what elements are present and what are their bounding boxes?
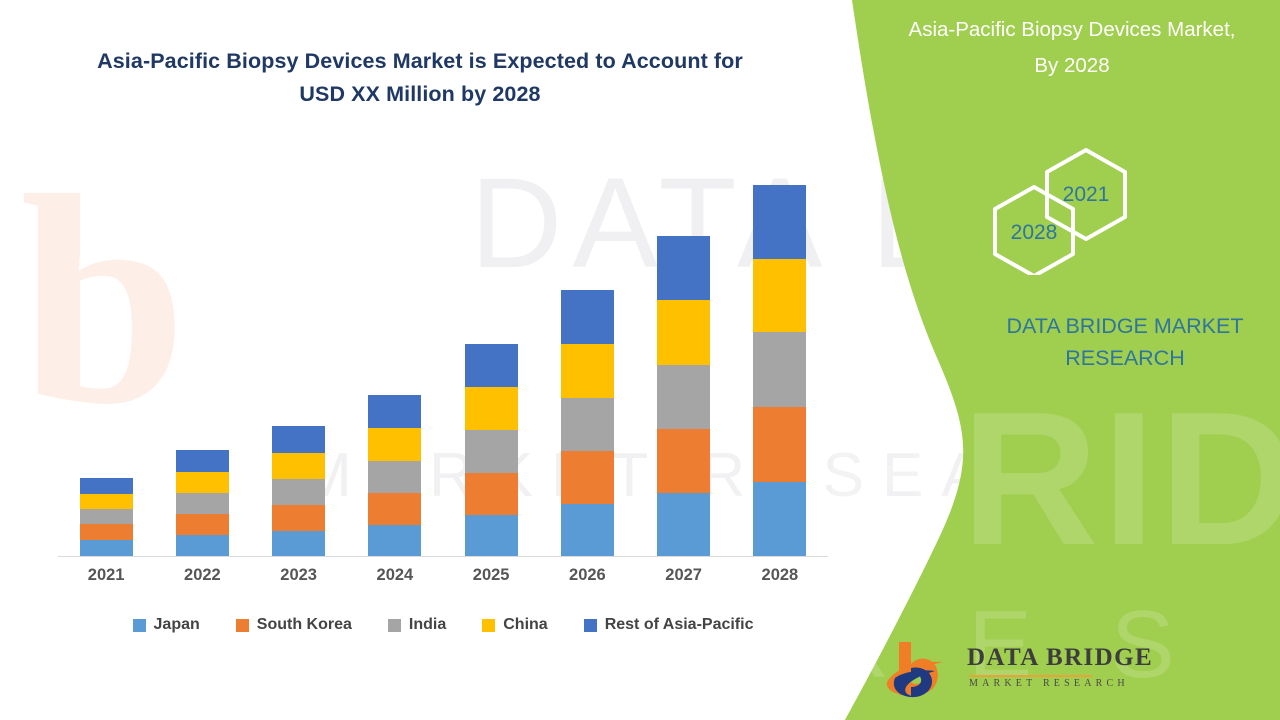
bar-segment-china-2022[interactable] [176, 472, 229, 493]
bar-segment-south-korea-2021[interactable] [80, 524, 133, 540]
bar-segment-rest-of-asia-pacific-2027[interactable] [657, 236, 710, 300]
chart-title-line-1: Asia-Pacific Biopsy Devices Market is Ex… [97, 49, 743, 73]
hexagon-2021-label: 2021 [1041, 183, 1131, 207]
bar-segment-south-korea-2026[interactable] [561, 451, 614, 504]
legend-item-south-korea[interactable]: South Korea [236, 616, 352, 634]
chart-legend: JapanSouth KoreaIndiaChinaRest of Asia-P… [58, 616, 828, 634]
bar-segment-japan-2027[interactable] [657, 493, 710, 556]
bar-segment-rest-of-asia-pacific-2028[interactable] [753, 185, 806, 259]
bar-segment-japan-2021[interactable] [80, 540, 133, 556]
bar-segment-south-korea-2022[interactable] [176, 514, 229, 535]
legend-swatch-icon [236, 619, 249, 632]
x-tick-2022: 2022 [157, 566, 247, 585]
bar-segment-japan-2023[interactable] [272, 531, 325, 556]
bar-segment-rest-of-asia-pacific-2025[interactable] [465, 344, 518, 387]
panel-brand-line-1: DATA BRIDGE MARKET [1007, 314, 1244, 338]
panel-brand-line-2: RESEARCH [1065, 346, 1184, 370]
legend-item-japan[interactable]: Japan [133, 616, 200, 634]
bar-segment-south-korea-2027[interactable] [657, 429, 710, 493]
bar-segment-china-2024[interactable] [368, 428, 421, 461]
bar-segment-china-2023[interactable] [272, 453, 325, 479]
x-tick-2028: 2028 [735, 566, 825, 585]
legend-item-rest-of-asia-pacific[interactable]: Rest of Asia-Pacific [584, 616, 754, 634]
x-tick-2021: 2021 [61, 566, 151, 585]
bar-2026[interactable] [561, 290, 614, 556]
bar-2025[interactable] [465, 344, 518, 556]
legend-label: Rest of Asia-Pacific [605, 616, 754, 634]
bar-segment-japan-2028[interactable] [753, 482, 806, 556]
chart-title: Asia-Pacific Biopsy Devices Market is Ex… [60, 45, 780, 111]
bar-2022[interactable] [176, 450, 229, 556]
legend-label: Japan [154, 616, 200, 634]
bar-segment-rest-of-asia-pacific-2026[interactable] [561, 290, 614, 344]
panel-title-line-1: Asia-Pacific Biopsy Devices Market, [909, 18, 1236, 41]
bar-segment-india-2025[interactable] [465, 430, 518, 473]
bar-segment-india-2021[interactable] [80, 509, 133, 524]
bar-segment-china-2025[interactable] [465, 387, 518, 430]
bar-segment-china-2026[interactable] [561, 344, 614, 398]
legend-item-china[interactable]: China [482, 616, 547, 634]
hexagon-2028-label: 2028 [989, 221, 1079, 245]
hexagon-badges: 2021 2028 [985, 145, 1175, 275]
bar-2021[interactable] [80, 478, 133, 556]
bar-segment-south-korea-2024[interactable] [368, 493, 421, 525]
legend-label: China [503, 616, 547, 634]
panel-title: Asia-Pacific Biopsy Devices Market, By 2… [872, 12, 1272, 84]
legend-label: India [409, 616, 446, 634]
bar-segment-india-2024[interactable] [368, 461, 421, 493]
panel-title-line-2: By 2028 [1034, 54, 1109, 77]
bar-segment-china-2027[interactable] [657, 300, 710, 365]
bar-2023[interactable] [272, 426, 325, 556]
bar-segment-china-2028[interactable] [753, 259, 806, 332]
bar-segment-india-2028[interactable] [753, 332, 806, 407]
green-watermark-brid: BRID [820, 370, 1280, 588]
panel-brand-text: DATA BRIDGE MARKET RESEARCH [975, 310, 1275, 374]
infographic-canvas: b DATA BRIDGE MARKET RESEARCH Asia-Pacif… [0, 0, 1280, 720]
x-tick-2024: 2024 [350, 566, 440, 585]
logo-mark-icon [885, 638, 965, 704]
bar-segment-rest-of-asia-pacific-2024[interactable] [368, 395, 421, 428]
bar-segment-japan-2025[interactable] [465, 515, 518, 556]
logo-subtitle: MARKET RESEARCH [969, 678, 1129, 689]
x-tick-2026: 2026 [542, 566, 632, 585]
bar-segment-rest-of-asia-pacific-2022[interactable] [176, 450, 229, 472]
legend-swatch-icon [388, 619, 401, 632]
logo-title: DATA BRIDGE [967, 644, 1153, 672]
chart-plot-area [58, 150, 828, 557]
bar-segment-india-2026[interactable] [561, 398, 614, 451]
bar-2027[interactable] [657, 236, 710, 556]
x-tick-2023: 2023 [254, 566, 344, 585]
legend-item-india[interactable]: India [388, 616, 446, 634]
bar-segment-south-korea-2025[interactable] [465, 473, 518, 515]
legend-swatch-icon [133, 619, 146, 632]
x-axis-line [58, 556, 828, 557]
chart-title-line-2: USD XX Million by 2028 [299, 82, 540, 106]
legend-swatch-icon [482, 619, 495, 632]
bar-segment-south-korea-2023[interactable] [272, 505, 325, 531]
bar-2028[interactable] [753, 185, 806, 556]
data-bridge-logo: DATA BRIDGE MARKET RESEARCH [885, 638, 1115, 710]
logo-divider [969, 675, 1092, 677]
legend-label: South Korea [257, 616, 352, 634]
bar-2024[interactable] [368, 395, 421, 556]
bar-segment-japan-2022[interactable] [176, 535, 229, 556]
x-tick-2025: 2025 [446, 566, 536, 585]
bar-segment-china-2021[interactable] [80, 494, 133, 509]
bar-segment-rest-of-asia-pacific-2021[interactable] [80, 478, 133, 494]
bar-segment-india-2022[interactable] [176, 493, 229, 514]
bar-segment-south-korea-2028[interactable] [753, 407, 806, 482]
bar-segment-japan-2026[interactable] [561, 504, 614, 556]
x-tick-2027: 2027 [639, 566, 729, 585]
bar-segment-japan-2024[interactable] [368, 525, 421, 556]
legend-swatch-icon [584, 619, 597, 632]
bar-segment-india-2027[interactable] [657, 365, 710, 429]
bar-segment-india-2023[interactable] [272, 479, 325, 505]
bar-segment-rest-of-asia-pacific-2023[interactable] [272, 426, 325, 453]
